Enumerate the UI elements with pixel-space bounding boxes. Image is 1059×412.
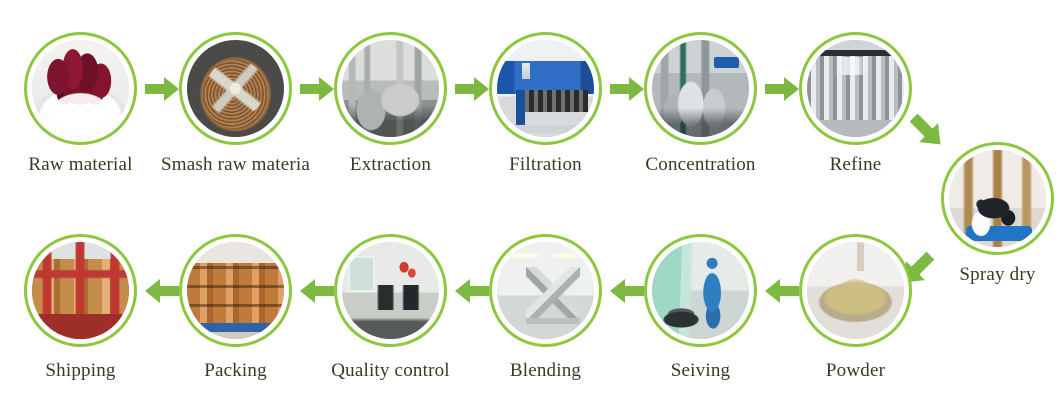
step-circle (489, 234, 602, 347)
step-circle (179, 32, 292, 145)
arrow-left-icon (765, 279, 799, 303)
step-circle (941, 142, 1054, 255)
arrow-left-icon (610, 279, 644, 303)
shipping-image (32, 242, 129, 339)
seiving-image (652, 242, 749, 339)
arrow-down-right-icon (908, 112, 946, 150)
step-circle (489, 32, 602, 145)
arrow-left-icon (455, 279, 489, 303)
step-label: Shipping (0, 360, 161, 382)
filtration-image (497, 40, 594, 137)
arrow-right-icon (300, 77, 334, 101)
refine-image (807, 40, 904, 137)
smash-raw-material-image (187, 40, 284, 137)
step-label: Blending (465, 360, 626, 382)
step-circle (334, 234, 447, 347)
raw-material-image (32, 40, 129, 137)
step-label: Quality control (301, 360, 480, 382)
packing-image (187, 242, 284, 339)
step-label: Concentration (620, 154, 781, 176)
step-label: Seiving (620, 360, 781, 382)
step-label: Powder (775, 360, 936, 382)
arrow-right-icon (765, 77, 799, 101)
quality-control-image (342, 242, 439, 339)
step-circle (24, 32, 137, 145)
step-label: Extraction (310, 154, 471, 176)
step-circle (334, 32, 447, 145)
step-label: Refine (775, 154, 936, 176)
arrow-left-icon (300, 279, 334, 303)
step-circle (179, 234, 292, 347)
arrow-right-icon (610, 77, 644, 101)
step-label: Packing (155, 360, 316, 382)
process-flow-diagram: Raw material Smash raw materia Extractio… (0, 0, 1059, 412)
step-circle (799, 32, 912, 145)
extraction-image (342, 40, 439, 137)
step-circle (24, 234, 137, 347)
concentration-image (652, 40, 749, 137)
powder-image (807, 242, 904, 339)
arrow-left-icon (145, 279, 179, 303)
step-label: Raw material (0, 154, 161, 176)
spray-dry-image (949, 150, 1046, 247)
arrow-right-icon (145, 77, 179, 101)
blending-image (497, 242, 594, 339)
step-circle (799, 234, 912, 347)
step-label: Filtration (465, 154, 626, 176)
step-label: Smash raw materia (146, 154, 325, 176)
arrow-right-icon (455, 77, 489, 101)
step-circle (644, 32, 757, 145)
step-circle (644, 234, 757, 347)
